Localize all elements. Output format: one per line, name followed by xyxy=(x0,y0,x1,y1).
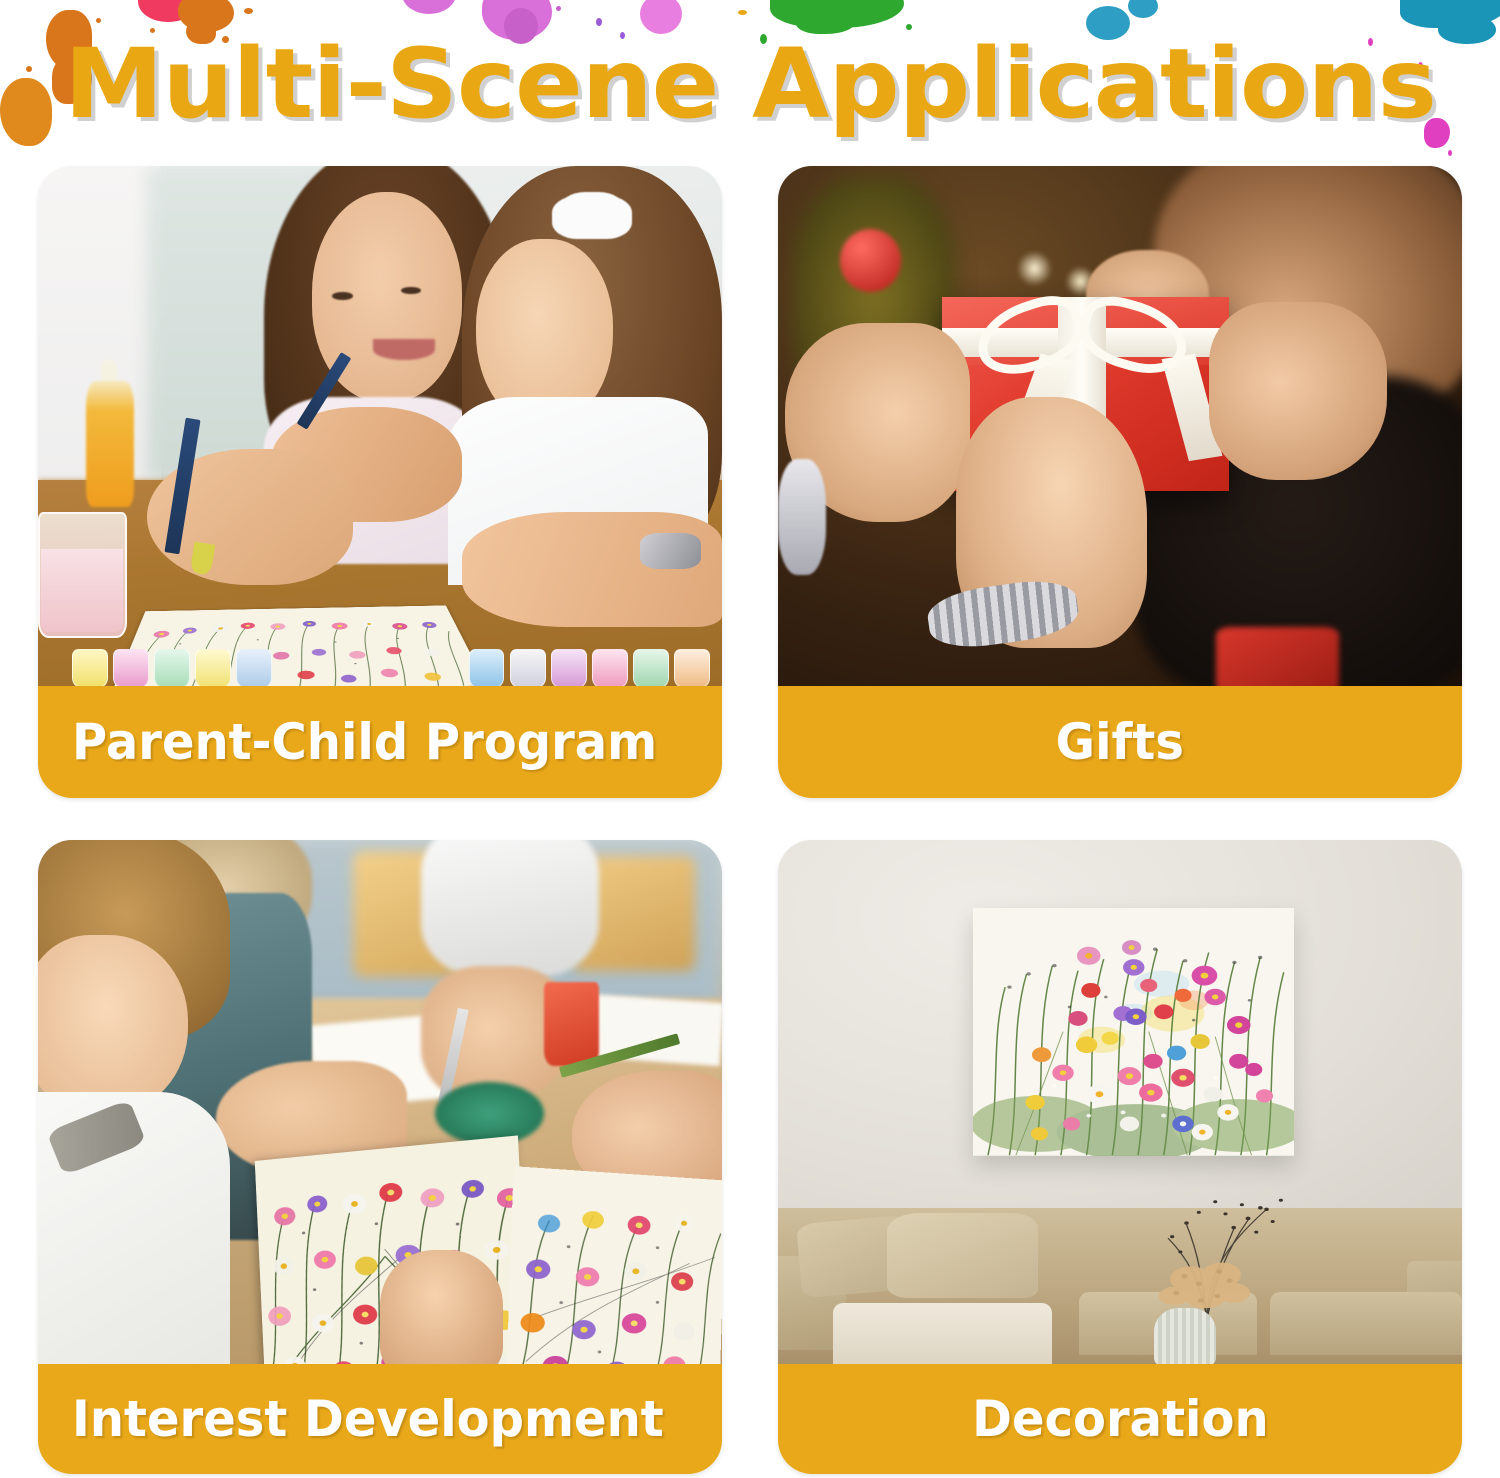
caption-label: Interest Development xyxy=(72,1392,664,1446)
paint-fleck xyxy=(96,18,101,23)
caption-band-gifts: Gifts xyxy=(778,686,1462,798)
candle-light xyxy=(1017,250,1051,287)
paint-pot xyxy=(236,649,272,688)
caption-band-decoration: Decoration xyxy=(778,1364,1462,1474)
paint-bottle xyxy=(86,381,134,507)
paint-pot xyxy=(592,649,628,688)
caption-band-parent-child: Parent-Child Program xyxy=(38,686,722,798)
photo-gift-exchange xyxy=(778,166,1462,690)
vase xyxy=(1154,1308,1216,1366)
photo-classroom-painting xyxy=(38,840,722,1366)
paint-splatter-green xyxy=(770,0,904,28)
ornament xyxy=(840,229,902,292)
caption-label: Decoration xyxy=(972,1392,1268,1446)
paint-pot xyxy=(154,649,190,688)
card-parent-child-program[interactable]: Parent-Child Program xyxy=(38,166,722,798)
paint-pot xyxy=(674,649,710,688)
child-foreground-face xyxy=(38,935,188,1114)
card-gifts[interactable]: Gifts xyxy=(778,166,1462,798)
hand xyxy=(380,1250,503,1366)
hair-bow xyxy=(558,192,626,239)
paint-pot xyxy=(113,649,149,688)
bracelet xyxy=(778,459,826,574)
photo-parent-child-painting xyxy=(38,166,722,690)
paint-fleck xyxy=(1448,150,1452,156)
caption-label: Parent-Child Program xyxy=(72,715,657,769)
paint-fleck xyxy=(556,6,561,11)
caption-label: Gifts xyxy=(1056,715,1184,769)
caption-band-interest-development: Interest Development xyxy=(38,1364,722,1474)
wristwatch xyxy=(640,533,702,570)
photo-living-room-wall-art xyxy=(778,840,1462,1366)
card-interest-development[interactable]: Interest Development xyxy=(38,840,722,1474)
hand xyxy=(1209,302,1387,480)
paint-palette xyxy=(435,1082,544,1145)
card-decoration[interactable]: Decoration xyxy=(778,840,1462,1474)
paint-fleck xyxy=(738,10,747,15)
paint-cup xyxy=(544,982,599,1066)
cushion xyxy=(887,1213,1037,1297)
paint-pot xyxy=(510,649,546,688)
child-background xyxy=(421,840,599,977)
paint-fleck xyxy=(244,8,253,14)
page-title: Multi-Scene Applications xyxy=(0,34,1500,134)
paint-splatter-teal xyxy=(1128,0,1158,18)
paint-pot xyxy=(633,649,669,688)
paint-pot xyxy=(72,649,108,688)
paint-splatter-purple xyxy=(402,0,456,14)
paint-pot xyxy=(469,649,505,688)
infographic-page: Multi-Scene Applications xyxy=(0,0,1500,1478)
picture-frame xyxy=(973,908,1294,1155)
floral-canvas-right xyxy=(506,1166,722,1366)
paint-fleck xyxy=(596,18,602,26)
header-banner: Multi-Scene Applications xyxy=(0,0,1500,160)
paint-pot xyxy=(551,649,587,688)
water-glass xyxy=(38,512,127,638)
paint-splatter-red xyxy=(138,0,200,22)
paint-splatter-teal xyxy=(1400,0,1500,28)
paint-pot xyxy=(195,649,231,688)
dried-flowers xyxy=(1127,1182,1291,1319)
wildflower-artwork xyxy=(973,908,1294,1155)
